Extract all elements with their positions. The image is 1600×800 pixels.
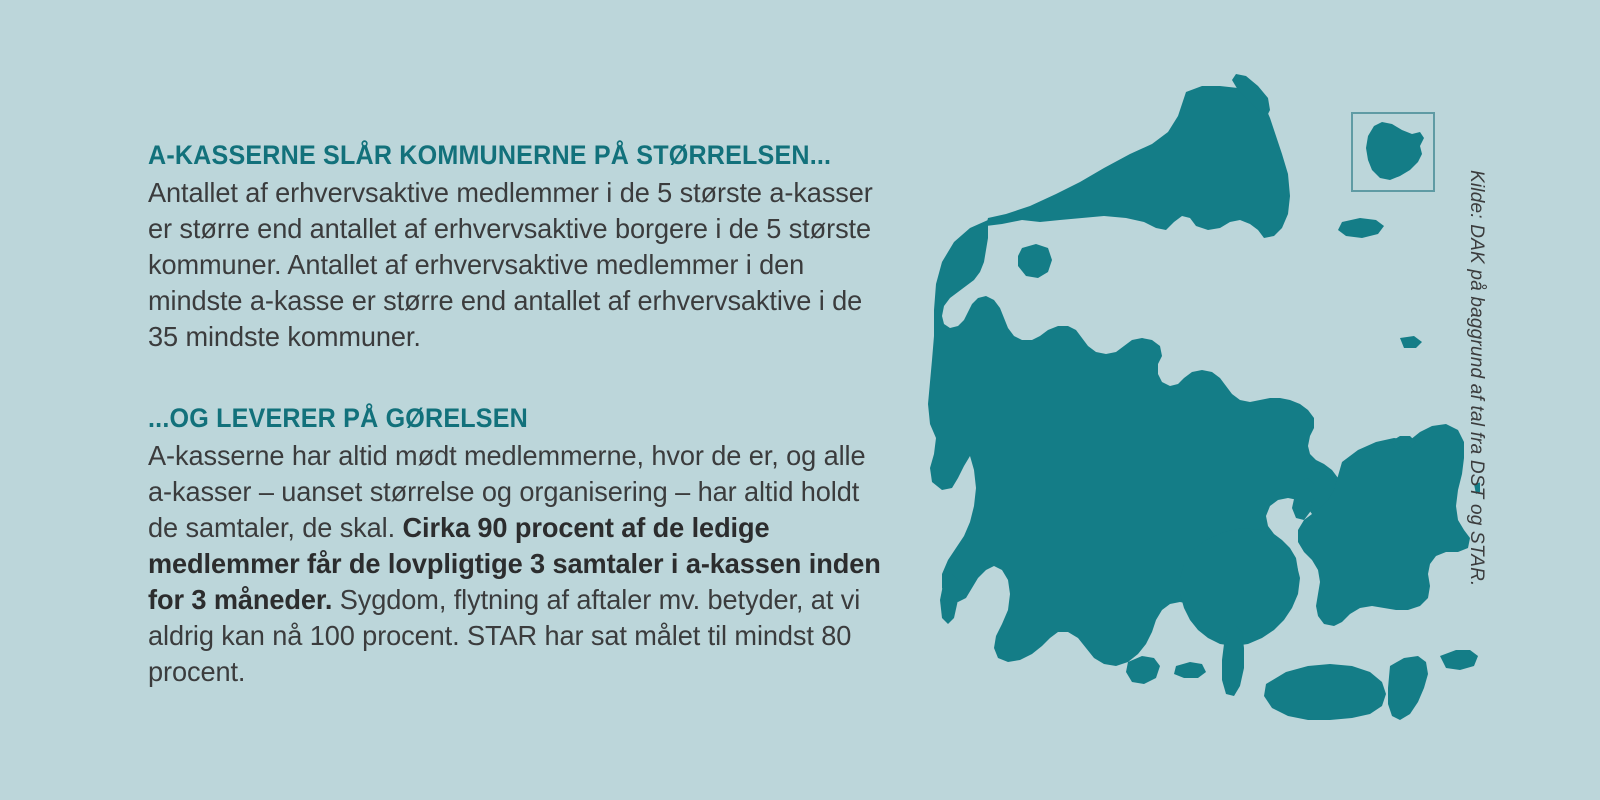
- land-falster: [1388, 656, 1428, 720]
- land-zealand: [1298, 424, 1470, 626]
- land-anholt: [1400, 336, 1422, 348]
- land-als: [1126, 656, 1160, 684]
- land-aero: [1174, 662, 1206, 678]
- land-vendsyssel: [986, 86, 1290, 238]
- text-column: A-KASSERNE SLÅR KOMMUNERNE PÅ STØRRELSEN…: [148, 140, 908, 690]
- land-laeso: [1338, 218, 1384, 238]
- text-block-delivery: ...OG LEVERER PÅ GØRELSEN A-kasserne har…: [148, 403, 908, 690]
- section-heading-size: A-KASSERNE SLÅR KOMMUNERNE PÅ STØRRELSEN…: [148, 140, 855, 171]
- denmark-map: [890, 70, 1480, 720]
- land-lolland: [1264, 664, 1386, 720]
- source-note: Kilde: DAK på baggrund af tal fra DST og…: [1462, 170, 1490, 630]
- body-run: Antallet af erhvervsaktive medlemmer i d…: [148, 177, 873, 352]
- body-copy-delivery: A-kasserne har altid mødt medlemmerne, h…: [148, 438, 885, 690]
- land-mon: [1440, 650, 1478, 670]
- text-block-size: A-KASSERNE SLÅR KOMMUNERNE PÅ STØRRELSEN…: [148, 140, 908, 355]
- bornholm-inset: [1352, 113, 1434, 191]
- body-copy-size: Antallet af erhvervsaktive medlemmer i d…: [148, 175, 885, 355]
- land-bornholm: [1366, 122, 1424, 180]
- section-heading-delivery: ...OG LEVERER PÅ GØRELSEN: [148, 403, 855, 434]
- land-mors: [1018, 244, 1052, 278]
- infographic-canvas: A-KASSERNE SLÅR KOMMUNERNE PÅ STØRRELSEN…: [0, 0, 1600, 800]
